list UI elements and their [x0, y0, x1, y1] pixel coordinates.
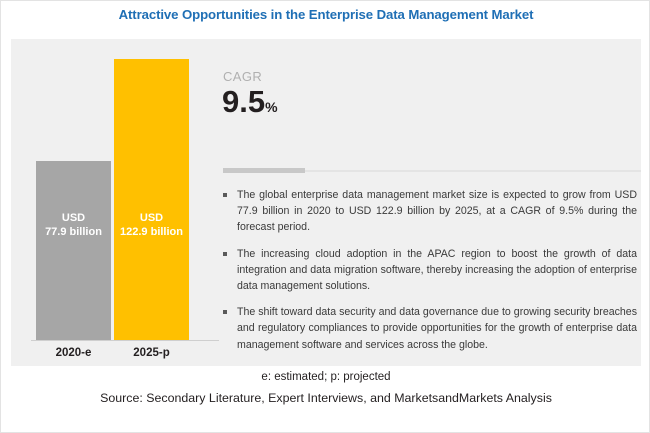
category-label-2020: 2020-e: [36, 347, 111, 359]
cagr-value: 9.5%: [222, 85, 278, 124]
footer-source: Source: Secondary Literature, Expert Int…: [1, 391, 650, 405]
section-divider-accent: [223, 168, 305, 173]
bullet-list: The global enterprise data management ma…: [219, 187, 641, 353]
page-title: Attractive Opportunities in the Enterpri…: [1, 7, 650, 22]
bar-2025-label-line2: 122.9 billion: [114, 225, 189, 239]
square-bullet-icon: [223, 193, 227, 197]
bullet-item: The shift toward data security and data …: [219, 304, 641, 353]
bullet-text: The shift toward data security and data …: [237, 306, 637, 350]
square-bullet-icon: [223, 252, 227, 256]
bar-2020-label: USD 77.9 billion: [36, 211, 111, 239]
insights-section: CAGR 9.5% The global enterprise data man…: [219, 39, 641, 366]
footer-note: e: estimated; p: projected: [1, 371, 650, 383]
cagr-number: 9.5: [222, 84, 265, 119]
bar-2025-label-line1: USD: [140, 212, 163, 224]
bullet-item: The global enterprise data management ma…: [219, 187, 641, 236]
category-label-2025: 2025-p: [114, 347, 189, 359]
bar-chart: USD 77.9 billion USD 122.9 billion 2020-…: [19, 39, 219, 366]
cagr-label: CAGR: [223, 69, 262, 84]
bar-2020-label-line2: 77.9 billion: [36, 225, 111, 239]
bullet-item: The increasing cloud adoption in the APA…: [219, 246, 641, 295]
chart-baseline-axis: [31, 340, 219, 341]
bar-2020-e: USD 77.9 billion: [36, 161, 111, 340]
cagr-percent-symbol: %: [265, 99, 277, 115]
square-bullet-icon: [223, 310, 227, 314]
content-panel: USD 77.9 billion USD 122.9 billion 2020-…: [11, 39, 641, 366]
bullet-text: The increasing cloud adoption in the APA…: [237, 248, 637, 292]
bar-2025-label: USD 122.9 billion: [114, 211, 189, 239]
chart-plot-area: USD 77.9 billion USD 122.9 billion: [19, 39, 219, 340]
bullet-text: The global enterprise data management ma…: [237, 189, 637, 233]
bar-2025-p: USD 122.9 billion: [114, 59, 189, 340]
bar-2020-label-line1: USD: [62, 212, 85, 224]
infographic-page: Attractive Opportunities in the Enterpri…: [0, 0, 650, 433]
